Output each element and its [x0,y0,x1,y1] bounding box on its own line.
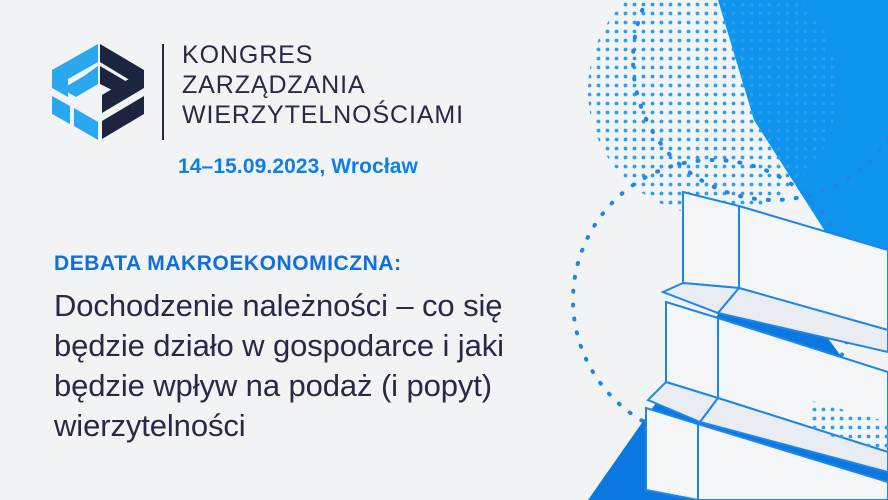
brand-wordmark: KONGRES ZARZĄDZANIA WIERZYTELNOŚCIAMI [182,40,464,130]
brand-divider [162,44,164,140]
headline-line-2: będzie działo w gospodarce i jaki [54,326,614,366]
session-kicker: DEBATA MAKROEKONOMICZNA: [54,252,402,276]
headline-line-1: Dochodzenie należności – co się [54,286,614,326]
brand-lockup: KONGRES ZARZĄDZANIA WIERZYTELNOŚCIAMI [48,40,464,144]
isometric-bar [646,408,698,500]
headline-line-4: wierzytelności [54,406,614,446]
brand-line-1: KONGRES [182,40,464,70]
event-date-location: 14–15.09.2023, Wrocław [178,155,418,179]
headline-line-3: będzie wpływ na podaż (i popyt) [54,366,614,406]
brand-line-3: WIERZYTELNOŚCIAMI [182,100,464,130]
isometric-cube-logo-icon [48,40,148,144]
brand-line-2: ZARZĄDZANIA [182,70,464,100]
session-headline: Dochodzenie należności – co się będzie d… [54,286,614,446]
poster-canvas: KONGRES ZARZĄDZANIA WIERZYTELNOŚCIAMI 14… [0,0,888,500]
